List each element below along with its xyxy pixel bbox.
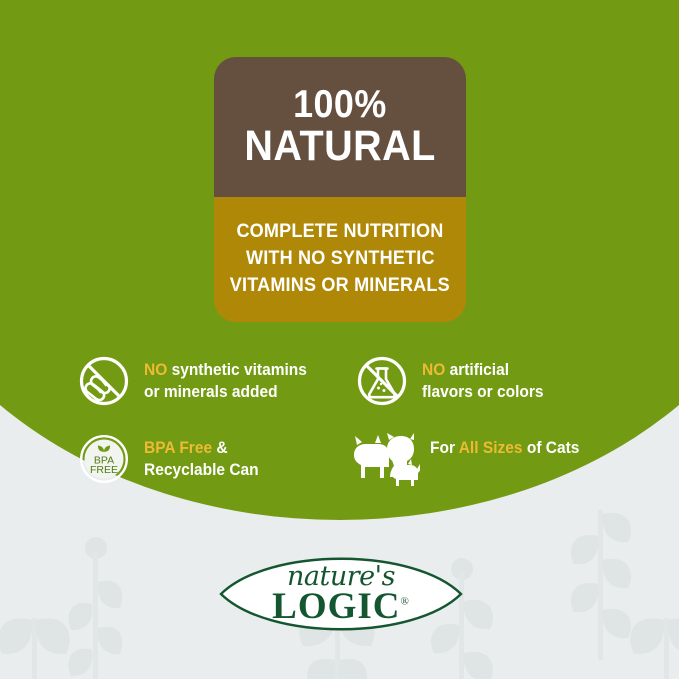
badge-headline-percent: 100% bbox=[293, 85, 387, 125]
product-feature-panel: 100% NATURAL COMPLETE NUTRITION WITH NO … bbox=[0, 0, 679, 679]
feature-highlight: NO bbox=[144, 361, 167, 379]
feature-item-no-synthetic-vitamins: NO synthetic vitamins or minerals added bbox=[78, 352, 356, 430]
sprout-decoration-icon bbox=[620, 600, 679, 679]
badge-headline-natural: NATURAL bbox=[244, 124, 435, 169]
badge-subtext-line-3: VITAMINS OR MINERALS bbox=[230, 273, 450, 300]
svg-text:FREE: FREE bbox=[90, 464, 118, 476]
feature-rest: synthetic vitamins or minerals added bbox=[144, 361, 307, 401]
bpa-free-icon: BPA FREE bbox=[78, 433, 130, 485]
no-pills-icon bbox=[78, 355, 130, 407]
feature-list: NO synthetic vitamins or minerals added … bbox=[78, 352, 608, 508]
badge-subtext-line-1: COMPLETE NUTRITION bbox=[237, 219, 444, 246]
feature-item-all-sizes-of-cats: For All Sizes of Cats bbox=[356, 430, 608, 508]
feature-highlight: BPA Free bbox=[144, 439, 212, 457]
feature-label: NO artificial flavors or colors bbox=[422, 352, 544, 404]
badge-subtext-block: COMPLETE NUTRITION WITH NO SYNTHETIC VIT… bbox=[214, 197, 466, 322]
feature-highlight: All Sizes bbox=[459, 439, 523, 457]
feature-row-1: NO synthetic vitamins or minerals added … bbox=[78, 352, 608, 430]
badge-headline-block: 100% NATURAL bbox=[214, 57, 466, 197]
feature-label: NO synthetic vitamins or minerals added bbox=[144, 352, 307, 404]
no-flask-icon bbox=[356, 355, 408, 407]
natural-claim-badge: 100% NATURAL COMPLETE NUTRITION WITH NO … bbox=[214, 57, 466, 322]
feature-label: For All Sizes of Cats bbox=[430, 430, 579, 460]
feature-highlight: NO bbox=[422, 361, 445, 379]
badge-subtext-line-2: WITH NO SYNTHETIC bbox=[246, 246, 435, 273]
sprout-decoration-icon bbox=[0, 600, 83, 679]
feature-row-2: BPA FREE BPA Free & Recyclable Can bbox=[78, 430, 608, 508]
feature-item-bpa-free: BPA FREE BPA Free & Recyclable Can bbox=[78, 430, 356, 508]
feature-rest: of Cats bbox=[523, 439, 580, 457]
brand-logo: nature's LOGIC® bbox=[219, 541, 463, 647]
feature-prefix: For bbox=[430, 439, 459, 457]
feature-item-no-artificial-flavors: NO artificial flavors or colors bbox=[356, 352, 608, 430]
cats-icon bbox=[348, 433, 416, 485]
feature-label: BPA Free & Recyclable Can bbox=[144, 430, 259, 482]
